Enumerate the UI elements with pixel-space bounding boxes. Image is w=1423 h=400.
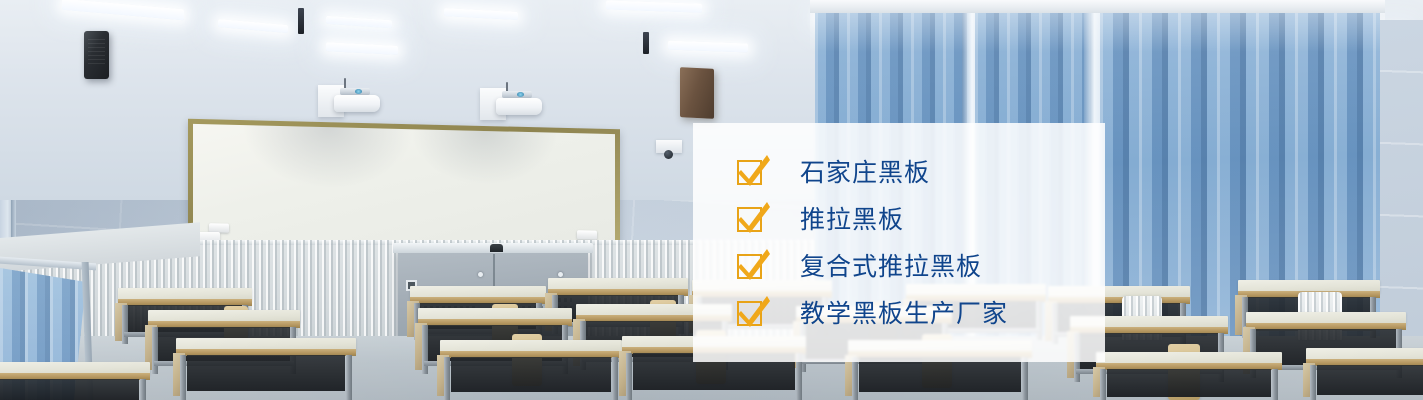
ceiling-sensor-icon (643, 32, 649, 54)
curtain-rail (810, 0, 1385, 13)
camera-lens-icon (664, 150, 673, 159)
wall-speaker (680, 67, 714, 119)
wall-speaker (84, 31, 109, 79)
podium-lock-icon (558, 272, 563, 277)
right-wall-tiles (1380, 20, 1423, 360)
list-item[interactable]: 推拉黑板 (737, 196, 1105, 243)
checkbox-checked-icon[interactable] (737, 207, 762, 232)
classroom-banner: 石家庄黑板 推拉黑板 复合式推拉黑板 (0, 0, 1423, 400)
projector-glare (244, 125, 413, 189)
student-desk (176, 338, 356, 400)
list-item-label: 教学黑板生产厂家 (800, 301, 1008, 326)
whiteboard (188, 119, 620, 256)
ceiling-sensor-icon (298, 8, 304, 34)
list-item[interactable]: 复合式推拉黑板 (737, 243, 1105, 290)
student-desk (440, 340, 622, 400)
student-desk (0, 362, 150, 400)
student-desk (1306, 348, 1423, 400)
checkbox-checked-icon[interactable] (737, 160, 762, 185)
projector-glare (412, 129, 555, 186)
student-desk (1096, 352, 1282, 400)
list-item[interactable]: 石家庄黑板 (737, 149, 1105, 196)
checkbox-checked-icon[interactable] (737, 254, 762, 279)
whiteboard-eraser (577, 230, 597, 239)
list-item-label: 推拉黑板 (800, 207, 904, 232)
list-item[interactable]: 教学黑板生产厂家 (737, 290, 1105, 337)
checkbox-checked-icon[interactable] (737, 301, 762, 326)
list-item-label: 石家庄黑板 (800, 160, 930, 185)
list-item-label: 复合式推拉黑板 (800, 254, 982, 279)
podium-lock-icon (478, 272, 483, 277)
podium-microphone (490, 244, 503, 252)
feature-list: 石家庄黑板 推拉黑板 复合式推拉黑板 (693, 123, 1105, 362)
whiteboard-surface (193, 124, 615, 250)
feature-list-panel: 石家庄黑板 推拉黑板 复合式推拉黑板 (693, 123, 1105, 362)
